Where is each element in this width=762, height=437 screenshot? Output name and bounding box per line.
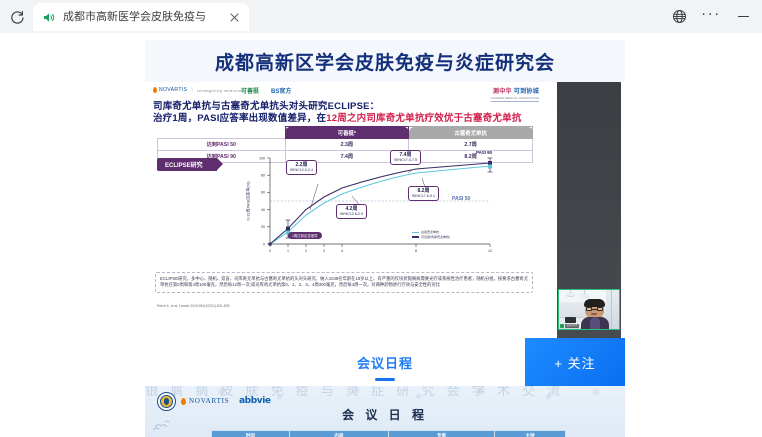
birds-decoration-icon xyxy=(153,420,179,432)
agenda-slide-title: 会 议 日 程 xyxy=(145,406,625,423)
novartis-flame-icon xyxy=(153,87,157,93)
page-body: 成都高新区学会皮肤免疫与炎症研究会 NOVARTIS | reimagining… xyxy=(0,33,762,437)
svg-text:8: 8 xyxy=(415,249,417,253)
pasi-response-chart: 0-12周PASI应答率(%) xyxy=(240,148,530,258)
slide-canvas: NOVARTIS | reimagining medicine 可善挺 BS官方… xyxy=(145,82,545,338)
follow-button-label: + 关注 xyxy=(554,353,595,372)
participant-badge: 四川大学 xyxy=(560,324,579,328)
eclipse-study-tag: ECLIPSE研究 xyxy=(157,158,217,171)
window-controls: ··· xyxy=(664,0,758,33)
chart-annotation: 8.2周 95%CI:7.6-9.1 xyxy=(408,186,439,201)
chart-reference-label: PASI 50 xyxy=(452,196,470,202)
reload-icon[interactable] xyxy=(6,6,28,28)
hair xyxy=(584,299,605,307)
abbvie-logo: abbvie xyxy=(239,396,271,406)
table-header-guselkumab: 古塞奇尤单抗 xyxy=(409,127,533,139)
participant-name: 四川大学 xyxy=(565,324,579,328)
novartis-flame-icon xyxy=(181,398,186,405)
participant-avatar xyxy=(581,299,609,329)
novartis-logo: NOVARTIS | reimagining medicine xyxy=(153,87,243,93)
page-header-banner: 成都高新区学会皮肤免疫与炎症研究会 xyxy=(145,40,625,82)
svg-text:4: 4 xyxy=(341,249,343,253)
monitor xyxy=(565,317,576,323)
annotation-ci: 95%CI:2.0-2.4 xyxy=(290,168,313,172)
tab-agenda-label: 会议日程 xyxy=(357,353,413,372)
svg-text:60: 60 xyxy=(261,191,265,195)
chart-endpoint-label: PASI 90 xyxy=(476,150,492,155)
content-column: 成都高新区学会皮肤免疫与炎症研究会 NOVARTIS | reimagining… xyxy=(145,33,625,437)
video-participants-panel[interactable]: 四川大学 xyxy=(557,82,621,338)
tab-active-indicator xyxy=(375,378,395,381)
video-tile-active-speaker[interactable]: 四川大学 xyxy=(558,289,620,330)
table-header-row: 可善挺* 古塞奇尤单抗 xyxy=(158,127,533,139)
page-title: 成都高新区学会皮肤免疫与炎症研究会 xyxy=(215,48,555,75)
chart-annotation: 7.4周 95%CI:7.0-7.5 xyxy=(390,150,421,165)
chart-annotation: 2.2周 95%CI:2.0-2.4 xyxy=(286,160,317,175)
svg-text:80: 80 xyxy=(261,174,265,178)
browser-tab[interactable]: 成都市高新医学会皮肤免疫与 xyxy=(33,3,249,31)
globe-icon[interactable] xyxy=(664,2,694,32)
chart-annotation: 4.2周 95%CI:2.6-2.9 xyxy=(336,204,367,219)
screen-share-slide[interactable]: NOVARTIS | reimagining medicine 可善挺 BS官方… xyxy=(145,82,625,338)
microphone-on-icon xyxy=(560,324,564,328)
svg-text:2: 2 xyxy=(305,249,307,253)
svg-text:20: 20 xyxy=(261,225,265,229)
app-window: 成都市高新医学会皮肤免疫与 ··· xyxy=(0,0,762,437)
slide-source-citation: Reich K, et al. Lancet 2019;394(10201):8… xyxy=(157,304,230,308)
brand-bs: BS官方 xyxy=(271,86,291,95)
chart-week-pill: 1周达到应答差异 xyxy=(288,232,322,239)
table-header-kexianting: 可善挺* xyxy=(285,127,409,139)
svg-text:40: 40 xyxy=(261,208,265,212)
agenda-header-host: 主持 xyxy=(495,431,566,437)
glasses-icon xyxy=(586,307,603,311)
speaker-playing-icon xyxy=(42,10,57,25)
agenda-slide-preview[interactable]: 银 屑 病 皮 肤 免 疫 与 炎 症 研 究 会 学 术 交 流 NOVART… xyxy=(145,386,625,437)
svg-text:0: 0 xyxy=(269,249,271,253)
svg-text:0: 0 xyxy=(263,242,265,246)
slide-logo-row: NOVARTIS | reimagining medicine 可善挺 BS官方… xyxy=(153,86,539,96)
cma-logo: 测中华 可到协城 CHINESE MEDICAL ASSOCIATION xyxy=(491,86,539,102)
slide-headline-2-pre: 治疗1周，PASI应答率出现数值差异，在 xyxy=(153,113,326,124)
annotation-ci: 95%CI:2.6-2.9 xyxy=(340,212,363,216)
annotation-ci: 95%CI:7.0-7.5 xyxy=(394,158,417,162)
svg-text:12: 12 xyxy=(488,249,492,253)
agenda-header-time: 时间 xyxy=(212,431,290,437)
svg-text:1: 1 xyxy=(287,249,289,253)
cma-logo-b: 可到协城 xyxy=(514,89,539,95)
slide-headline-2-highlight: 12周之内司库奇尤单抗疗效优于古塞奇尤单抗 xyxy=(326,113,521,124)
cma-logo-rule xyxy=(491,101,539,102)
svg-text:3: 3 xyxy=(323,249,325,253)
mouth xyxy=(591,313,597,315)
chart-y-axis-label: 0-12周PASI应答率(%) xyxy=(244,162,253,240)
agenda-header-content: 内容 xyxy=(289,431,388,437)
minimize-icon[interactable] xyxy=(728,2,758,32)
slide-footnote: ECLIPSE研究，多中心、随机、双盲，司库奇尤单抗与古塞奇尤单抗的头对头研究，… xyxy=(155,272,533,293)
legend-swatch xyxy=(412,236,419,238)
novartis-wordmark: NOVARTIS xyxy=(189,397,229,405)
browser-tab-title: 成都市高新医学会皮肤免疫与 xyxy=(63,3,223,31)
annotation-ci: 95%CI:7.6-9.1 xyxy=(412,194,435,198)
cma-logo-sub: CHINESE MEDICAL ASSOCIATION xyxy=(491,96,539,100)
legend-item: 可善挺(司库奇尤单抗) xyxy=(412,235,450,240)
chart-svg: 0 20 40 60 80 100 xyxy=(240,148,530,258)
legend-label: 可善挺(司库奇尤单抗) xyxy=(421,235,450,240)
legend-swatch xyxy=(412,232,419,234)
agenda-header-row: 时间 内容 专家 主持 xyxy=(212,431,566,437)
logo-separator: | xyxy=(191,87,193,93)
novartis-logo: NOVARTIS xyxy=(181,397,229,405)
table-header-blank xyxy=(158,127,286,139)
pendant-lamp-icon xyxy=(566,292,575,297)
brand-kexianting: 可善挺 xyxy=(241,86,259,95)
close-icon[interactable] xyxy=(225,8,243,26)
browser-chrome: 成都市高新医学会皮肤免疫与 ··· xyxy=(0,0,762,33)
follow-button[interactable]: + 关注 xyxy=(525,338,625,386)
torso xyxy=(581,317,609,329)
svg-text:100: 100 xyxy=(259,156,265,160)
slide-footnote-text: ECLIPSE研究，多中心、随机、双盲，司库奇尤单抗与古塞奇尤单抗的头对头研究，… xyxy=(160,276,528,289)
agenda-table: 时间 内容 专家 主持 19:00-19:05 开场致词 温新生 四川省人民医院 xyxy=(211,430,566,437)
cma-logo-a: 测中华 xyxy=(493,89,512,95)
chart-legend: 古塞奇尤单抗 可善挺(司库奇尤单抗) xyxy=(412,230,450,239)
more-options-icon[interactable]: ··· xyxy=(696,2,726,32)
slide-headline-2: 治疗1周，PASI应答率出现数值差异，在12周之内司库奇尤单抗疗效优于古塞奇尤单… xyxy=(153,110,522,124)
agenda-header-expert: 专家 xyxy=(388,431,494,437)
